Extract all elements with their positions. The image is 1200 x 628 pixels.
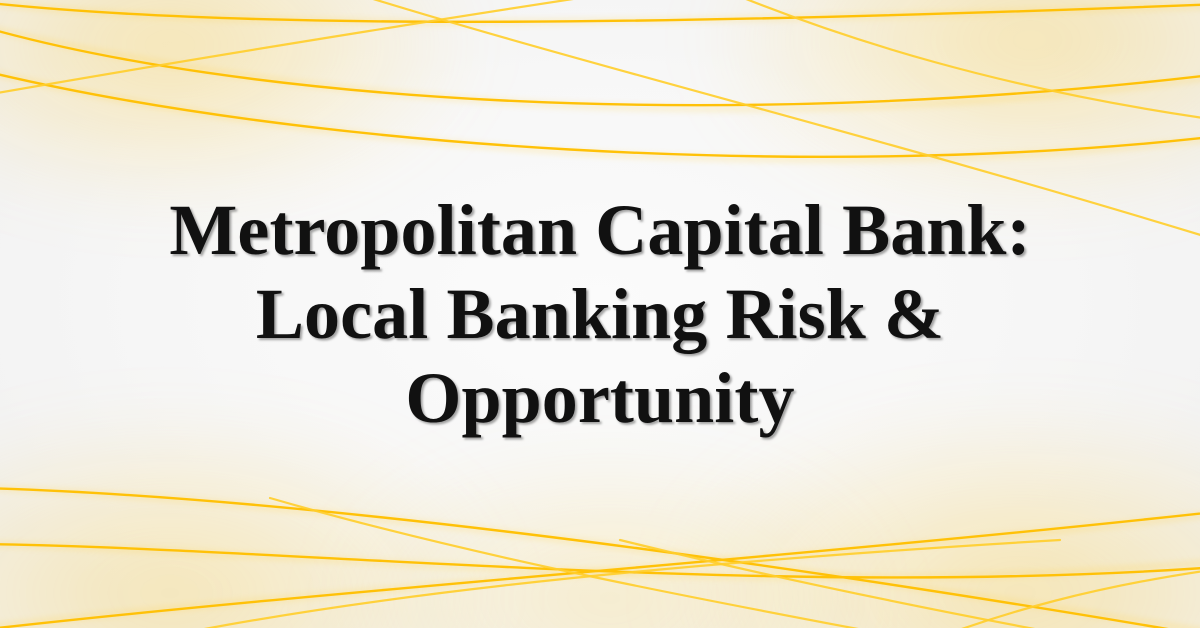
slide-title: Metropolitan Capital Bank: Local Banking… <box>150 188 1050 441</box>
title-block: Metropolitan Capital Bank: Local Banking… <box>0 0 1200 628</box>
title-slide: Metropolitan Capital Bank: Local Banking… <box>0 0 1200 628</box>
